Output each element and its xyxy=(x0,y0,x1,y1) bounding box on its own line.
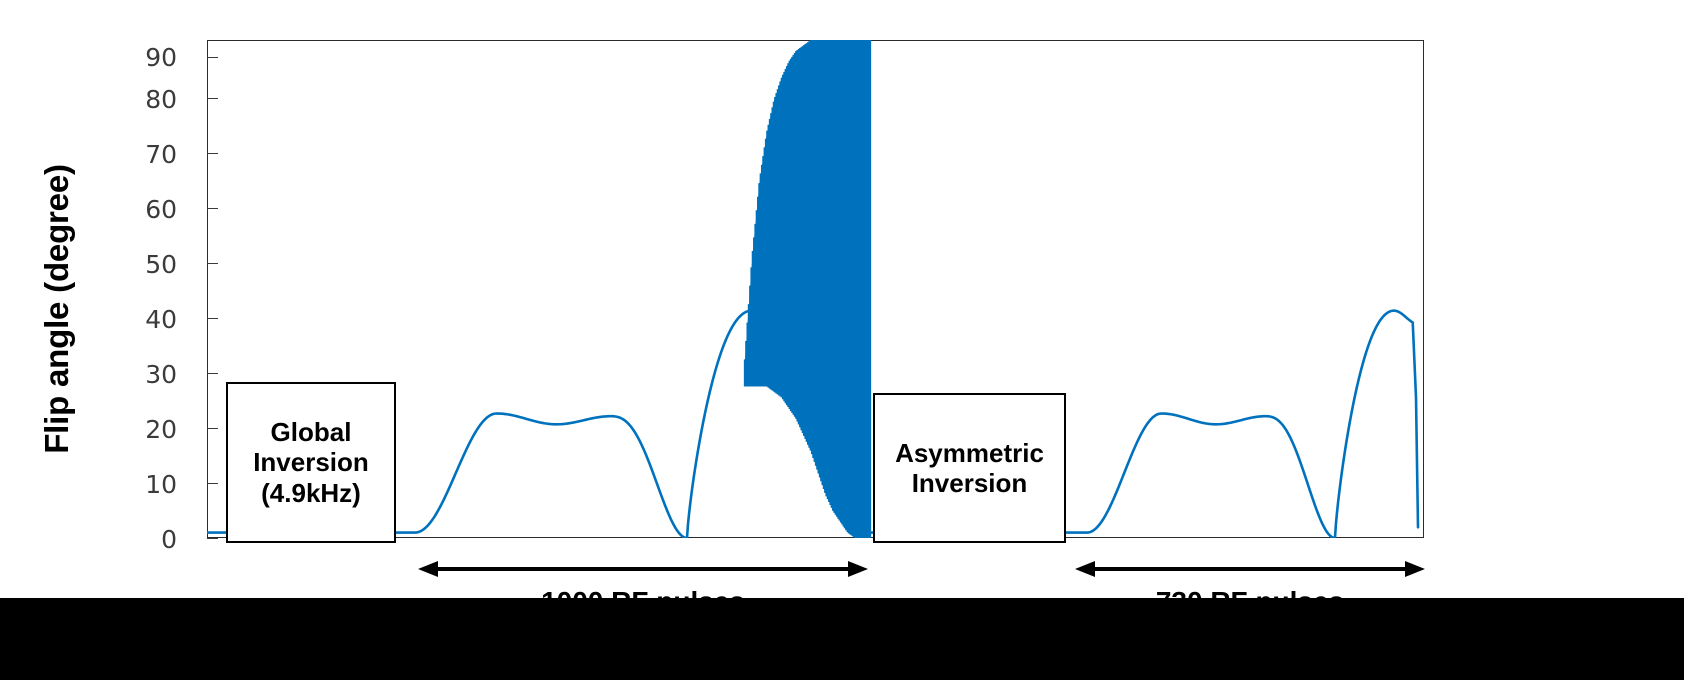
y-tick-label-40: 40 xyxy=(125,307,177,332)
y-tick-label-70: 70 xyxy=(125,142,177,167)
y-tick-label-30: 30 xyxy=(125,362,177,387)
asymmetric-inversion-label-box: Asymmetric Inversion xyxy=(873,393,1066,543)
figure-canvas: Flip angle (degree) 0 10 20 30 40 50 60 … xyxy=(0,0,1684,680)
y-tick-label-80: 80 xyxy=(125,87,177,112)
global-inversion-label-box: Global Inversion (4.9kHz) xyxy=(226,382,396,543)
y-tick-label-10: 10 xyxy=(125,472,177,497)
global-inversion-line-1: Global xyxy=(271,417,352,447)
global-inversion-line-2: Inversion xyxy=(253,447,369,477)
y-tick-label-0: 0 xyxy=(125,527,177,552)
y-axis-title: Flip angle (degree) xyxy=(38,109,76,509)
asymmetric-inversion-line-2: Inversion xyxy=(912,468,1028,498)
y-tick-mark-0 xyxy=(207,538,218,539)
rf-pulse-span-arrow-right xyxy=(1075,556,1425,582)
y-tick-label-90: 90 xyxy=(125,45,177,70)
y-tick-label-20: 20 xyxy=(125,417,177,442)
y-tick-label-60: 60 xyxy=(125,197,177,222)
asymmetric-inversion-line-1: Asymmetric xyxy=(895,438,1044,468)
y-tick-label-50: 50 xyxy=(125,252,177,277)
rf-pulse-count-label-left: 1000 RF pulses xyxy=(418,586,868,618)
rf-pulse-span-arrow-left xyxy=(418,556,868,582)
dense-pulse-block xyxy=(745,40,870,538)
rf-pulse-count-label-right: 730 RF pulses xyxy=(1075,586,1425,618)
global-inversion-line-3: (4.9kHz) xyxy=(261,478,361,508)
